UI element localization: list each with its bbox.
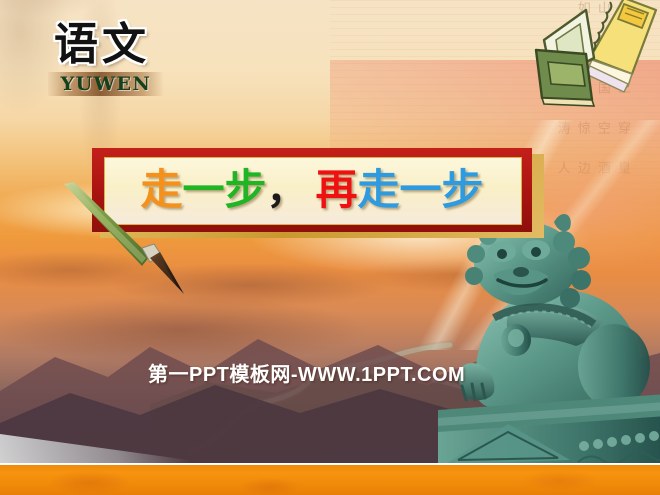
title-chars-yibu: 一步 (182, 169, 266, 211)
logo-pinyin-text: YUWEN (48, 72, 164, 96)
brush-graphic (60, 182, 185, 297)
presentation-slide: 皇酒边人 穿空惊涛 三国周郎 维雪 江山如 (0, 0, 660, 495)
watermark-text: 第一PPT模板网-WWW.1PPT.COM (148, 358, 465, 387)
title-chars-zouyibu: 走一步 (358, 169, 484, 211)
bottom-accent-bar (0, 463, 660, 495)
subject-logo: 语文 YUWEN (48, 24, 164, 98)
books-graphic (528, 0, 660, 108)
logo-chinese-text: 语文 (54, 22, 164, 68)
calligraphy-brush (60, 182, 185, 297)
open-books-illustration (528, 0, 660, 108)
title-comma: ， (267, 170, 307, 210)
title-char-zai: 再 (316, 169, 358, 211)
